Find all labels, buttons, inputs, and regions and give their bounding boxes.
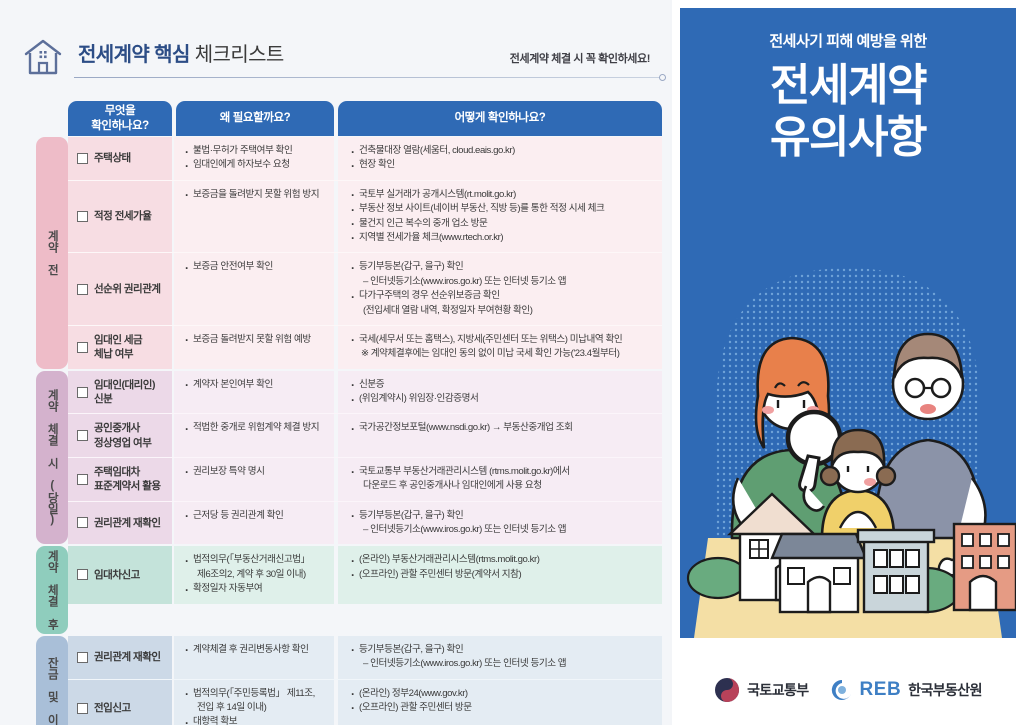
logo-reb: REB 한국부동산원 [831,679,982,701]
checklist-row: 임대차신고법적의무(「부동산거래신고법」제6조의2, 계약 후 30일 이내)확… [68,546,662,603]
cell-how: 신분증(위임계약시) 위임장·인감증명서 [334,371,662,414]
checkbox[interactable] [77,652,88,663]
cell-why-item: 제6조의2, 계약 후 30일 이내) [184,568,326,582]
checklist-row: 임대인(대리인)신분계약자 본인여부 확인신분증(위임계약시) 위임장·인감증명… [68,371,662,415]
cell-how-item: 부동산 정보 사이트(네이버 부동산, 직방 등)를 통한 적정 시세 체크 [350,202,654,216]
group-label: 잔금 및 이사 후 [36,636,68,725]
cell-how-item: 등기부등본(갑구, 을구) 확인 [350,260,654,274]
cell-how-item: – 인터넷등기소(www.iros.go.kr) 또는 인터넷 등기소 앱 [350,523,654,537]
check-item-label: 임대인 세금체납 여부 [94,333,142,361]
poster-title-line1: 전세계약 [680,60,1016,112]
cell-how-list: 등기부등본(갑구, 을구) 확인– 인터넷등기소(www.iros.go.kr)… [350,260,654,318]
cell-why-item: 적법한 중개로 위험계약 체결 방지 [184,421,326,435]
check-item-label: 주택상태 [94,151,131,165]
checklist-group: 계약 전주택상태불법·무허가 주택여부 확인임대인에게 하자보수 요청건축물대장… [36,137,662,369]
logo-reb-text: 한국부동산원 [908,680,982,700]
logo-molit: 국토교통부 [714,677,808,703]
checkbox[interactable] [77,569,88,580]
cell-what[interactable]: 임대인(대리인)신분 [68,371,172,414]
checklist-row: 공인중개사정상영업 여부적법한 중개로 위험계약 체결 방지국가공간정보포털(w… [68,414,662,457]
checklist-row: 전입신고법적의무(「주민등록법」 제11조,전입 후 14일 이내)대항력 확보… [68,680,662,725]
checkbox[interactable] [77,703,88,714]
column-header-what-line2: 확인하나요? [91,120,149,132]
family-illustration [680,238,1016,638]
cell-why-item: 임대인에게 하자보수 요청 [184,158,326,172]
cell-how-item: (위임계약시) 위임장·인감증명서 [350,392,654,406]
house-icon [22,36,64,78]
cell-how-item: (오프라인) 관할 주민센터 방문 [350,701,654,715]
checklist-row: 권리관계 재확인계약체결 후 권리변동사항 확인등기부등본(갑구, 을구) 확인… [68,636,662,680]
checkbox[interactable] [77,474,88,485]
checklist-panel: 전세계약 핵심 체크리스트 전세계약 체결 시 꼭 확인하세요! 무엇을 확인하… [0,0,670,725]
cell-what[interactable]: 전입신고 [68,680,172,725]
cell-why-list: 보증금을 돌려받지 못할 위험 방지 [184,188,326,202]
cell-how-list: (온라인) 부동산거래관리시스템(rtms.molit.go.kr)(오프라인)… [350,553,654,582]
cell-how: 등기부등본(갑구, 을구) 확인– 인터넷등기소(www.iros.go.kr)… [334,253,662,325]
poster-panel: 전세사기 피해 예방을 위한 전세계약 유의사항 [672,0,1024,725]
checklist-group: 계약 체결 후임대차신고법적의무(「부동산거래신고법」제6조의2, 계약 후 3… [36,546,662,633]
checklist-row: 임대인 세금체납 여부보증금 돌려받지 못할 위험 예방국세(세무서 또는 홈택… [68,326,662,369]
checkbox[interactable] [77,387,88,398]
cell-how-item: (온라인) 정부24(www.gov.kr) [350,687,654,701]
page-title: 전세계약 핵심 체크리스트 [78,38,284,67]
cell-how-item: – 인터넷등기소(www.iros.go.kr) 또는 인터넷 등기소 앱 [350,657,654,671]
checklist-row: 주택임대차표준계약서 활용권리보장 특약 명시국토교통부 부동산거래관리시스템 … [68,458,662,502]
cell-why-item: 권리보장 특약 명시 [184,465,326,479]
checkbox[interactable] [77,211,88,222]
cell-what[interactable]: 주택임대차표준계약서 활용 [68,458,172,501]
cell-what[interactable]: 적정 전세가율 [68,181,172,253]
poster-blue-area: 전세사기 피해 예방을 위한 전세계약 유의사항 [680,8,1016,638]
checkbox[interactable] [77,342,88,353]
checklist-row: 주택상태불법·무허가 주택여부 확인임대인에게 하자보수 요청건축물대장 열람(… [68,137,662,181]
cell-how: 국세(세무서 또는 홈택스), 지방세(주민센터 또는 위택스) 미납내역 확인… [334,326,662,369]
cell-how-item: 다가구주택의 경우 선순위보증금 확인 [350,289,654,303]
cell-why-item: 법적의무(「주민등록법」 제11조, [184,687,326,701]
check-item-label: 임대차신고 [94,568,140,582]
group-rows: 권리관계 재확인계약체결 후 권리변동사항 확인등기부등본(갑구, 을구) 확인… [68,636,662,725]
cell-how-list: 국토부 실거래가 공개시스템(rt.molit.go.kr)부동산 정보 사이트… [350,188,654,246]
check-item-label: 주택임대차표준계약서 활용 [94,465,161,493]
cell-how: 국가공간정보포털(www.nsdi.go.kr) → 부동산중개업 조회 [334,414,662,456]
cell-how-item: (오프라인) 관할 주민센터 방문(계약서 지참) [350,568,654,582]
cell-how-item: 건축물대장 열람(세움터, cloud.eais.go.kr) [350,144,654,158]
cell-why: 근저당 등 권리관계 확인 [172,502,334,545]
page-title-strong: 전세계약 핵심 [78,44,190,66]
cell-why-item: 전입 후 14일 이내) [184,701,326,715]
cell-why-item: 보증금 돌려받지 못할 위험 예방 [184,333,326,347]
cell-how-item: 국세(세무서 또는 홈택스), 지방세(주민센터 또는 위택스) 미납내역 확인 [350,333,654,347]
cell-how-list: (온라인) 정부24(www.gov.kr)(오프라인) 관할 주민센터 방문 [350,687,654,716]
cell-why-item: 보증금을 돌려받지 못할 위험 방지 [184,188,326,202]
cell-how: (온라인) 정부24(www.gov.kr)(오프라인) 관할 주민센터 방문 [334,680,662,725]
header-note: 전세계약 체결 시 꼭 확인하세요! [510,50,650,66]
cell-what[interactable]: 임대차신고 [68,546,172,603]
cell-how: 등기부등본(갑구, 을구) 확인– 인터넷등기소(www.iros.go.kr)… [334,636,662,679]
taegeuk-icon [714,677,740,703]
cell-why: 불법·무허가 주택여부 확인임대인에게 하자보수 요청 [172,137,334,180]
cell-how-item: 현장 확인 [350,158,654,172]
group-rows: 임대인(대리인)신분계약자 본인여부 확인신분증(위임계약시) 위임장·인감증명… [68,371,662,545]
logo-reb-mark: REB [860,679,902,701]
cell-why-list: 보증금 안전여부 확인 [184,260,326,274]
checklist-row: 적정 전세가율보증금을 돌려받지 못할 위험 방지국토부 실거래가 공개시스템(… [68,181,662,254]
cell-how-item: – 인터넷등기소(www.iros.go.kr) 또는 인터넷 등기소 앱 [350,275,654,289]
cell-why: 적법한 중개로 위험계약 체결 방지 [172,414,334,456]
cell-why: 법적의무(「부동산거래신고법」제6조의2, 계약 후 30일 이내)확정일자 자… [172,546,334,603]
cell-why-list: 계약자 본인여부 확인 [184,378,326,392]
cell-how-item: 국가공간정보포털(www.nsdi.go.kr) → 부동산중개업 조회 [350,421,654,435]
cell-why-item: 보증금 안전여부 확인 [184,260,326,274]
cell-how-item: 국토교통부 부동산거래관리시스템 (rtms.molit.go.kr)에서 [350,465,654,479]
header-divider-dot [659,74,666,81]
group-rows: 주택상태불법·무허가 주택여부 확인임대인에게 하자보수 요청건축물대장 열람(… [68,137,662,369]
cell-why: 보증금 안전여부 확인 [172,253,334,325]
cell-how: 국토교통부 부동산거래관리시스템 (rtms.molit.go.kr)에서다운로… [334,458,662,501]
cell-how: (온라인) 부동산거래관리시스템(rtms.molit.go.kr)(오프라인)… [334,546,662,603]
checkbox[interactable] [77,430,88,441]
header-divider [74,77,662,78]
cell-what[interactable]: 선순위 권리관계 [68,253,172,325]
cell-what[interactable]: 주택상태 [68,137,172,180]
cell-how-list: 국세(세무서 또는 홈택스), 지방세(주민센터 또는 위택스) 미납내역 확인… [350,333,654,362]
cell-why: 계약체결 후 권리변동사항 확인 [172,636,334,679]
column-header-why: 왜 필요할까요? [176,101,334,136]
check-item-label: 적정 전세가율 [94,209,151,223]
cell-how-list: 신분증(위임계약시) 위임장·인감증명서 [350,378,654,407]
cell-how-item: 지역별 전세가율 체크(www.rtech.or.kr) [350,231,654,245]
check-item-label: 공인중개사정상영업 여부 [94,421,151,449]
checklist-row: 선순위 권리관계보증금 안전여부 확인등기부등본(갑구, 을구) 확인– 인터넷… [68,253,662,326]
cell-how-item: 다운로드 후 공인중개사나 임대인에게 사용 요청 [350,479,654,493]
cell-why-item: 법적의무(「부동산거래신고법」 [184,553,326,567]
checkbox[interactable] [77,517,88,528]
check-item-label: 권리관계 재확인 [94,650,161,664]
cell-how-item: 물건지 인근 복수의 중개 업소 방문 [350,217,654,231]
cell-why-item: 불법·무허가 주택여부 확인 [184,144,326,158]
cell-how-item: 신분증 [350,378,654,392]
cell-why-list: 불법·무허가 주택여부 확인임대인에게 하자보수 요청 [184,144,326,173]
cell-why-list: 보증금 돌려받지 못할 위험 예방 [184,333,326,347]
cell-why-item: 확정일자 자동부여 [184,582,326,596]
column-header-what-line1: 무엇을 [105,105,136,117]
cell-why-list: 계약체결 후 권리변동사항 확인 [184,643,326,657]
footer-logos: 국토교통부 REB 한국부동산원 [672,677,1024,703]
cell-why-list: 근저당 등 권리관계 확인 [184,509,326,523]
check-item-label: 전입신고 [94,701,131,715]
cell-why-item: 계약체결 후 권리변동사항 확인 [184,643,326,657]
cell-how-item: 등기부등본(갑구, 을구) 확인 [350,643,654,657]
cell-how-item: 국토부 실거래가 공개시스템(rt.molit.go.kr) [350,188,654,202]
cell-how-list: 건축물대장 열람(세움터, cloud.eais.go.kr)현장 확인 [350,144,654,173]
cell-why: 권리보장 특약 명시 [172,458,334,501]
check-item-label: 임대인(대리인)신분 [94,378,155,406]
reb-swirl-icon [831,679,853,701]
logo-molit-text: 국토교통부 [747,680,808,700]
cell-why-list: 권리보장 특약 명시 [184,465,326,479]
cell-why-list: 적법한 중개로 위험계약 체결 방지 [184,421,326,435]
group-rows: 임대차신고법적의무(「부동산거래신고법」제6조의2, 계약 후 30일 이내)확… [68,546,662,633]
document-header: 전세계약 핵심 체크리스트 전세계약 체결 시 꼭 확인하세요! [22,36,662,82]
checkbox[interactable] [77,284,88,295]
cell-how: 건축물대장 열람(세움터, cloud.eais.go.kr)현장 확인 [334,137,662,180]
cell-how-item: (온라인) 부동산거래관리시스템(rtms.molit.go.kr) [350,553,654,567]
checklist-table: 계약 전주택상태불법·무허가 주택여부 확인임대인에게 하자보수 요청건축물대장… [36,137,662,725]
cell-how-item: ※ 계약체결후에는 임대인 동의 없이 미납 국세 확인 가능('23.4월부터… [350,347,654,361]
cell-how-item: 등기부등본(갑구, 을구) 확인 [350,509,654,523]
page-title-light: 체크리스트 [195,44,284,66]
cell-what[interactable]: 권리관계 재확인 [68,502,172,545]
cell-how-list: 등기부등본(갑구, 을구) 확인– 인터넷등기소(www.iros.go.kr)… [350,643,654,672]
column-header-how: 어떻게 확인하나요? [338,101,662,136]
cell-how-item: (전입세대 열람 내역, 확정일자 부여현황 확인) [350,304,654,318]
poster-title-line2: 유의사항 [680,112,1016,164]
checklist-row: 권리관계 재확인근저당 등 권리관계 확인등기부등본(갑구, 을구) 확인– 인… [68,502,662,545]
cell-how: 국토부 실거래가 공개시스템(rt.molit.go.kr)부동산 정보 사이트… [334,181,662,253]
cell-what[interactable]: 공인중개사정상영업 여부 [68,414,172,456]
cell-how-list: 등기부등본(갑구, 을구) 확인– 인터넷등기소(www.iros.go.kr)… [350,509,654,538]
checklist-group: 잔금 및 이사 후권리관계 재확인계약체결 후 권리변동사항 확인등기부등본(갑… [36,636,662,725]
check-item-label: 선순위 권리관계 [94,282,161,296]
group-label: 계약 체결 후 [36,546,68,633]
group-label: 계약 체결 시 (당일) [36,371,68,545]
column-header-what: 무엇을 확인하나요? [68,101,172,136]
poster-subtitle: 전세사기 피해 예방을 위한 [680,30,1016,51]
infographic-page: 전세계약 핵심 체크리스트 전세계약 체결 시 꼭 확인하세요! 무엇을 확인하… [0,0,1024,725]
check-item-label: 권리관계 재확인 [94,516,161,530]
cell-why-item: 계약자 본인여부 확인 [184,378,326,392]
cell-what[interactable]: 권리관계 재확인 [68,636,172,679]
cell-why: 보증금을 돌려받지 못할 위험 방지 [172,181,334,253]
checklist-group: 계약 체결 시 (당일)임대인(대리인)신분계약자 본인여부 확인신분증(위임계… [36,371,662,545]
cell-why: 계약자 본인여부 확인 [172,371,334,414]
cell-why: 법적의무(「주민등록법」 제11조,전입 후 14일 이내)대항력 확보 [172,680,334,725]
cell-why-item: 근저당 등 권리관계 확인 [184,509,326,523]
cell-how-list: 국토교통부 부동산거래관리시스템 (rtms.molit.go.kr)에서다운로… [350,465,654,494]
cell-why-item: 대항력 확보 [184,715,326,725]
group-label: 계약 전 [36,137,68,369]
cell-how-list: 국가공간정보포털(www.nsdi.go.kr) → 부동산중개업 조회 [350,421,654,435]
poster-title: 전세계약 유의사항 [680,60,1016,164]
column-headers: 무엇을 확인하나요? 왜 필요할까요? 어떻게 확인하나요? [68,101,662,136]
checkbox[interactable] [77,153,88,164]
cell-why-list: 법적의무(「주민등록법」 제11조,전입 후 14일 이내)대항력 확보 [184,687,326,725]
cell-what[interactable]: 임대인 세금체납 여부 [68,326,172,369]
cell-why-list: 법적의무(「부동산거래신고법」제6조의2, 계약 후 30일 이내)확정일자 자… [184,553,326,596]
cell-how: 등기부등본(갑구, 을구) 확인– 인터넷등기소(www.iros.go.kr)… [334,502,662,545]
cell-why: 보증금 돌려받지 못할 위험 예방 [172,326,334,369]
